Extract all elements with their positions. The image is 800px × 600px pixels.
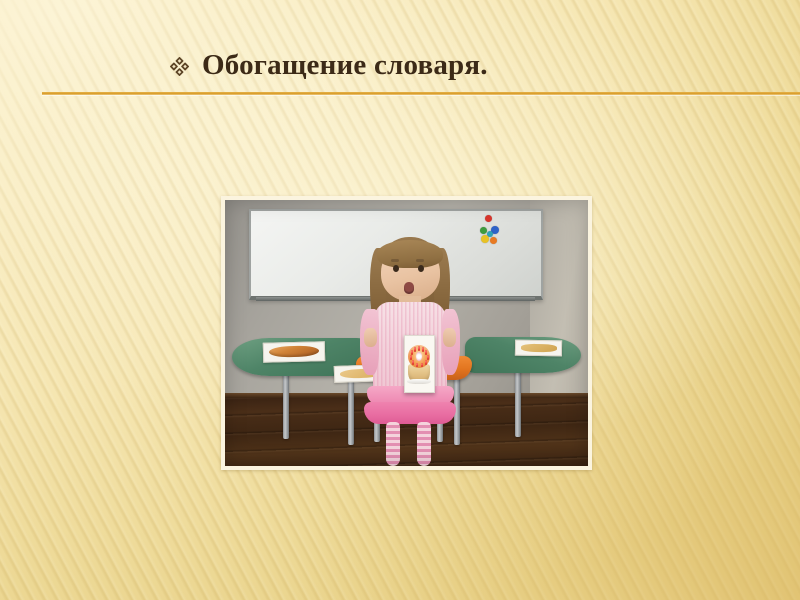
cake-berry — [412, 360, 414, 365]
eye-left — [393, 265, 399, 272]
cake-picture-card — [404, 335, 434, 394]
magnet-red — [485, 215, 492, 222]
cake-plate — [407, 379, 431, 385]
dress-ruffle-lower — [364, 402, 455, 424]
striped-legging-left — [386, 422, 400, 466]
magnet-cluster — [472, 215, 506, 255]
classroom-photo — [225, 200, 588, 466]
pie-picture-card — [263, 341, 325, 363]
photo-frame — [221, 196, 592, 470]
hand-right — [443, 328, 456, 347]
open-mouth — [404, 282, 415, 294]
hand-left — [364, 328, 377, 347]
cake-berry — [427, 355, 429, 360]
cake-berry — [410, 355, 412, 360]
magnet-green — [480, 227, 487, 234]
page-title: Обогащение словаря. — [202, 50, 488, 80]
fringe — [377, 240, 442, 268]
eyebrow-right — [416, 259, 425, 262]
bread-picture-card — [515, 339, 562, 356]
magnet-orange — [490, 237, 497, 244]
cake-illustration — [407, 343, 431, 385]
title-underline-rule — [42, 92, 800, 95]
eye-right — [418, 265, 424, 272]
table-leg — [283, 370, 289, 439]
slide-title-row: Обогащение словаря. — [170, 50, 488, 80]
magnet-yellow — [481, 235, 489, 243]
eyebrow-left — [391, 259, 400, 262]
cake-berry — [421, 363, 423, 368]
child — [356, 232, 465, 466]
cake-berry — [425, 360, 427, 365]
bread-illustration — [521, 343, 557, 351]
slide: Обогащение словаря. — [0, 0, 800, 600]
table-leg — [515, 368, 521, 437]
striped-legging-right — [417, 422, 431, 466]
diamond-quincunx-ornament-icon — [170, 57, 189, 76]
pie-illustration — [269, 346, 319, 358]
